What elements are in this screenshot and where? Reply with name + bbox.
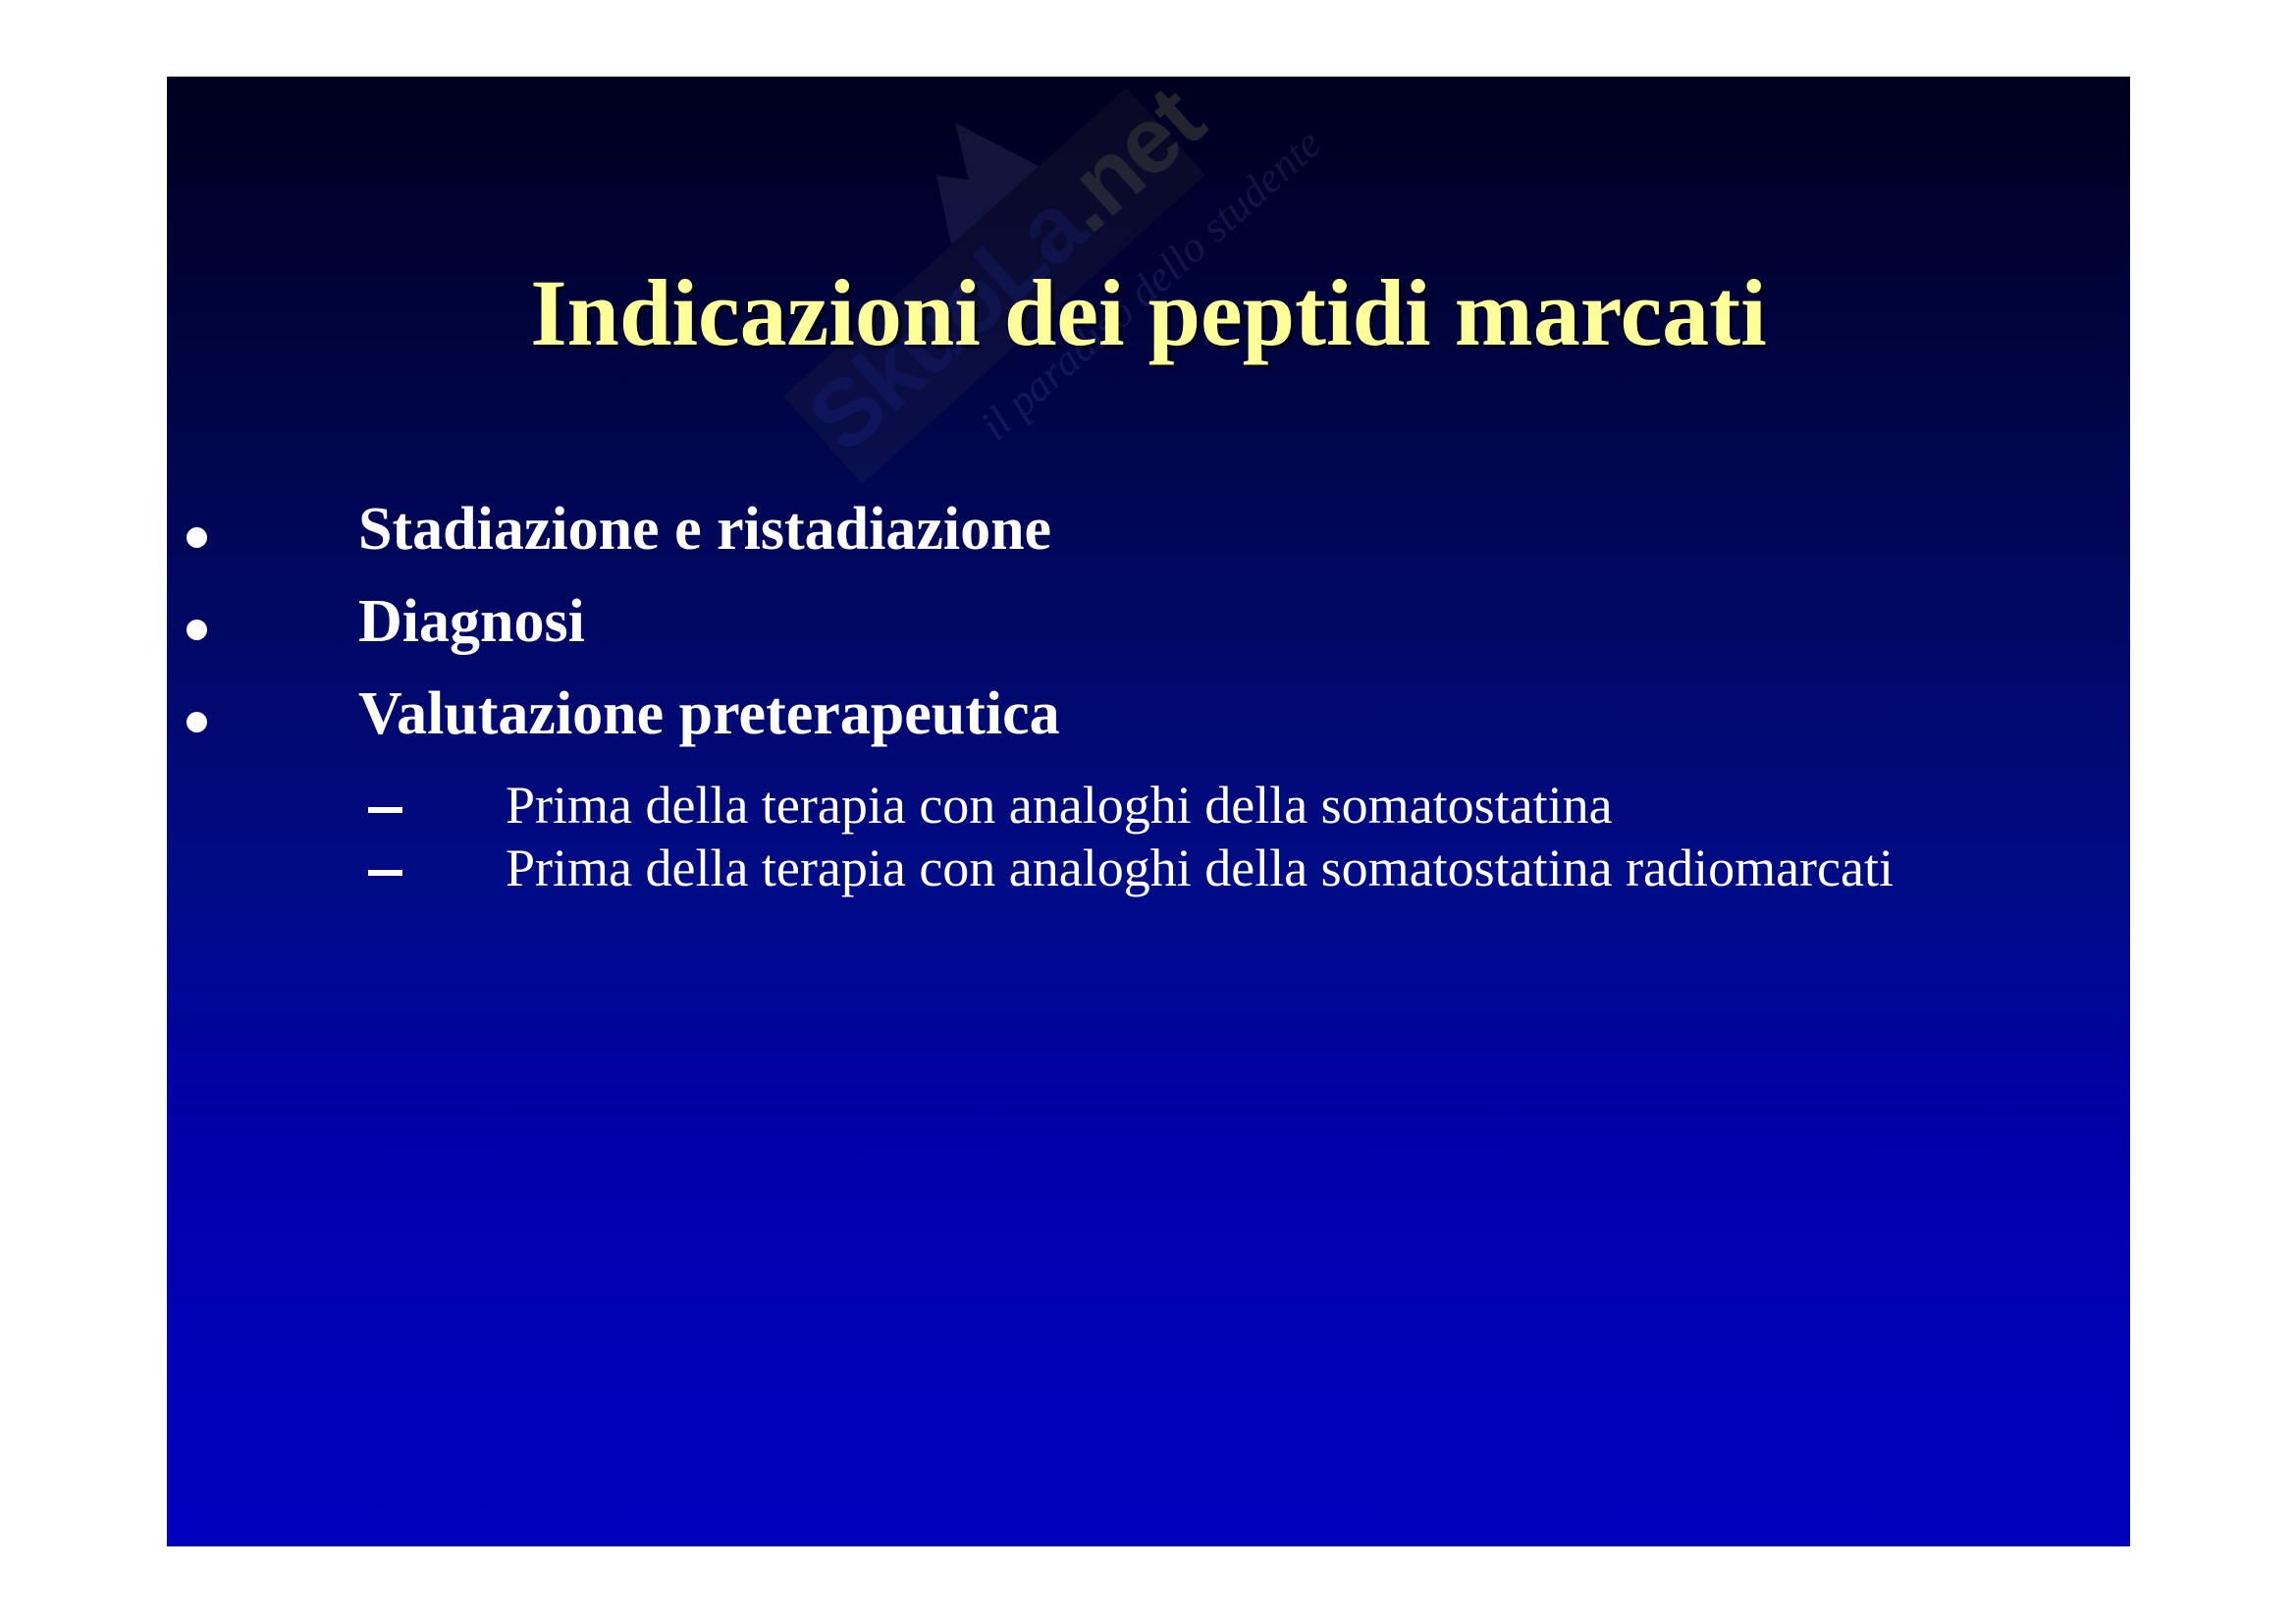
watermark-brand-net: .net — [1034, 77, 1222, 252]
bullet-dot-icon — [187, 527, 207, 548]
bullet-item-level1: Valutazione preterapeutica — [167, 683, 2130, 745]
slide-body: Stadiazione e ristadiazione Diagnosi Val… — [167, 499, 2130, 902]
bullet-label: Valutazione preterapeutica — [358, 680, 1060, 747]
bullet-label: Diagnosi — [358, 588, 585, 655]
slide-title: Indicazioni dei peptidi marcati — [167, 258, 2130, 367]
bullet-item-level1: Stadiazione e ristadiazione — [167, 499, 2130, 561]
watermark-mountain-icon — [892, 101, 1039, 245]
en-dash-icon — [368, 807, 402, 813]
bullet-dot-icon — [187, 620, 207, 640]
bullet-label: Prima della terapia con analoghi della s… — [506, 839, 1894, 897]
bullet-item-level1: Diagnosi — [167, 591, 2130, 653]
presentation-slide: SkuoLa.net il paradiso dello studente In… — [167, 77, 2130, 1546]
bullet-item-level2: Prima della terapia con analoghi della s… — [167, 839, 2130, 896]
bullet-label: Prima della terapia con analoghi della s… — [506, 776, 1613, 835]
bullet-label: Stadiazione e ristadiazione — [358, 496, 1051, 563]
bullet-item-level2: Prima della terapia con analoghi della s… — [167, 777, 2130, 834]
page-canvas: SkuoLa.net il paradiso dello studente In… — [0, 0, 2296, 1623]
bullet-dot-icon — [187, 712, 207, 732]
en-dash-icon — [368, 870, 402, 876]
